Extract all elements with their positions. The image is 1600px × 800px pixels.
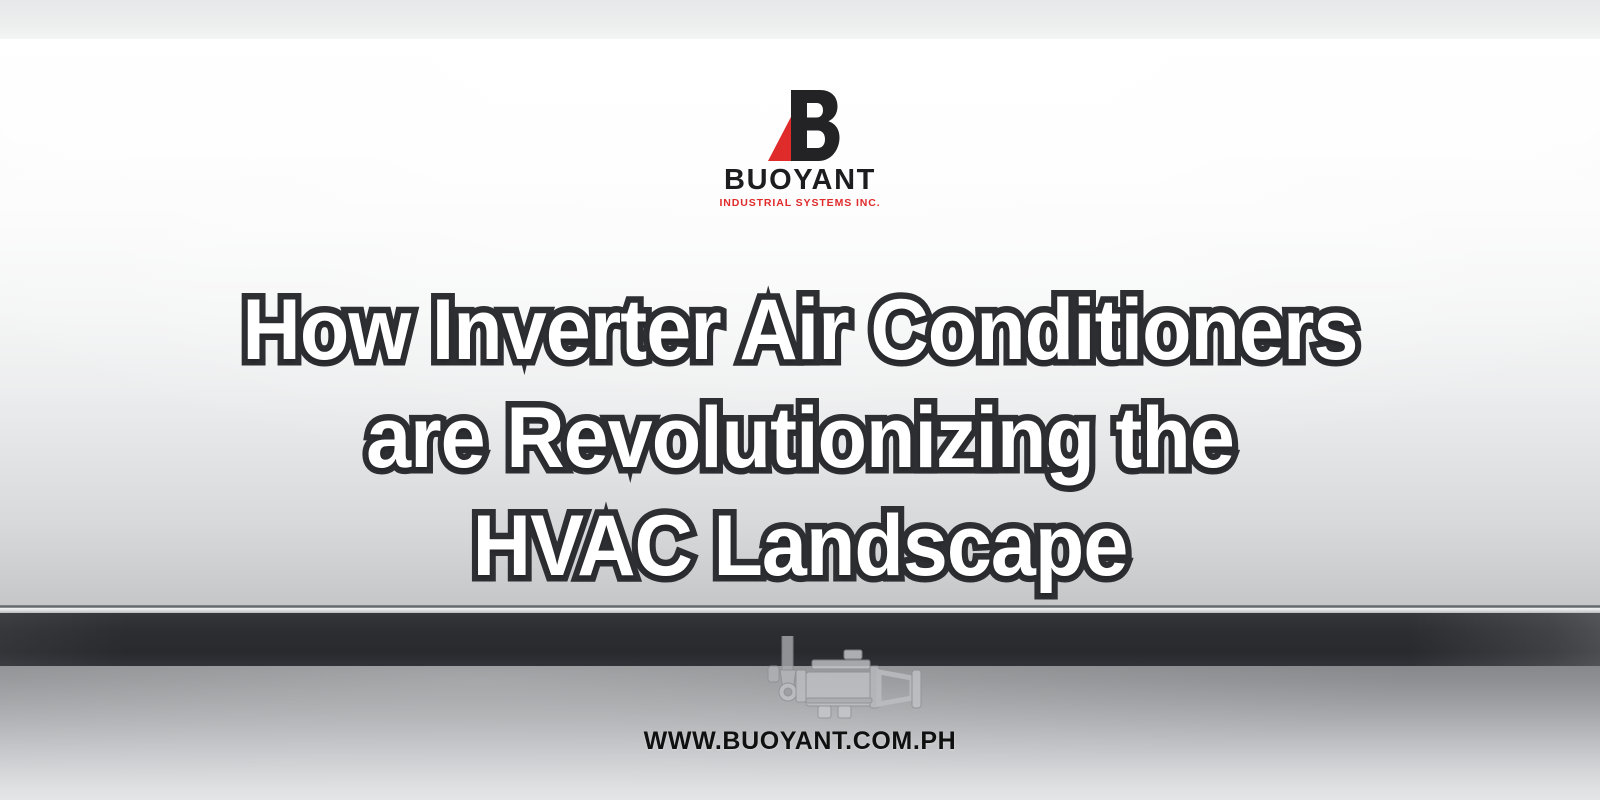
ac-unit-louver-shading — [0, 613, 1600, 666]
buoyant-b-logo-icon — [758, 88, 842, 162]
ac-unit-panel-seam — [0, 605, 1600, 608]
headline-line-2: are Revolutionizing the — [48, 384, 1552, 492]
logo-tagline: INDUSTRIAL SYSTEMS INC. — [719, 198, 880, 209]
logo-wordmark: BUOYANT — [724, 166, 876, 195]
headline-line-1: How Inverter Air Conditioners — [48, 276, 1552, 384]
ac-unit-highlight-strip — [0, 608, 1600, 613]
ac-louver-hinge-mechanism — [766, 636, 956, 722]
blog-header-banner: BUOYANT INDUSTRIAL SYSTEMS INC. How Inve… — [0, 0, 1600, 800]
ac-unit-air-outlet-louver — [0, 613, 1600, 666]
headline: How Inverter Air Conditioners are Revolu… — [0, 276, 1600, 600]
brand-logo: BUOYANT INDUSTRIAL SYSTEMS INC. — [0, 88, 1600, 209]
logo-letter-b — [791, 90, 840, 161]
background-top-ambient-strip — [0, 0, 1600, 39]
footer-website-url: WWW.BUOYANT.COM.PH — [0, 727, 1600, 756]
headline-line-3: HVAC Landscape — [48, 492, 1552, 600]
